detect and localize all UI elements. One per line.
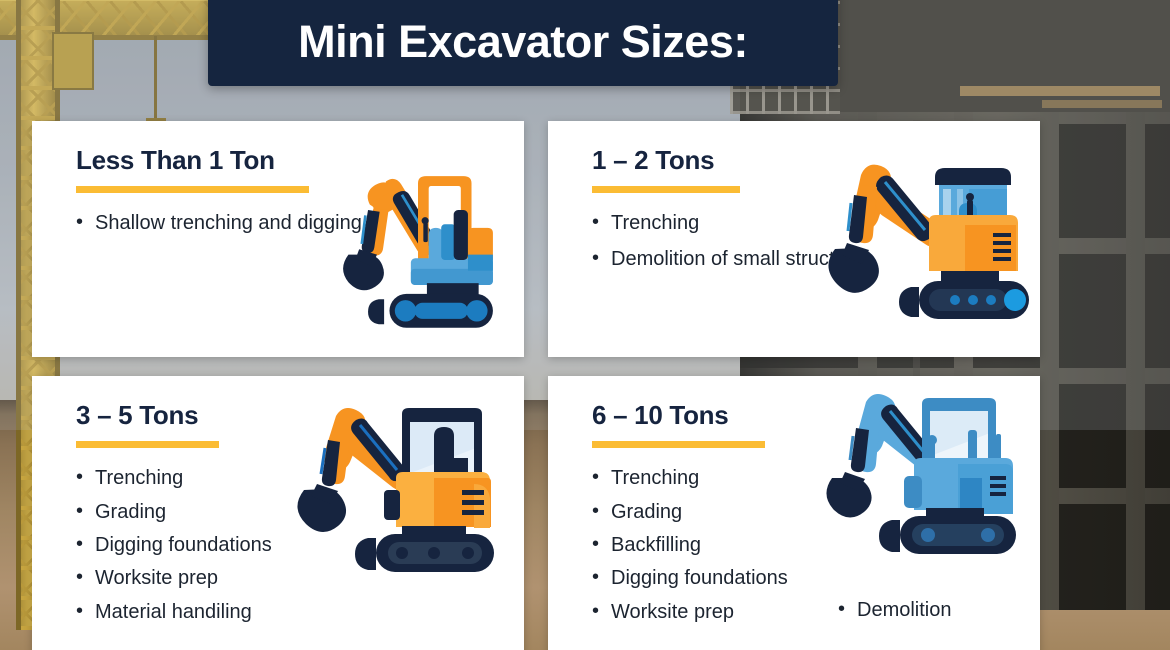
mini-excavator-illustration: [328, 169, 508, 334]
infographic-canvas: Mini Excavator Sizes: Less Than 1 Ton Sh…: [0, 0, 1170, 650]
title-underline: [76, 441, 219, 448]
list-item: Demolition: [838, 598, 951, 622]
list-item: Digging foundations: [592, 566, 892, 590]
card-bullet-list-secondary: Demolition: [838, 598, 951, 622]
mini-excavator-illustration: [817, 155, 1032, 340]
mini-excavator-illustration: [818, 390, 1018, 570]
size-card-less-than-1-ton[interactable]: Less Than 1 Ton Shallow trenching and di…: [32, 121, 524, 357]
title-banner: Mini Excavator Sizes:: [208, 0, 838, 86]
size-card-1-2-tons[interactable]: 1 – 2 Tons Trenching Demolition of small…: [548, 121, 1040, 357]
list-item: Material handiling: [76, 600, 376, 624]
size-card-6-10-tons[interactable]: 6 – 10 Tons Trenching Grading Backfillin…: [548, 376, 1040, 650]
mini-excavator-illustration: [284, 402, 494, 582]
size-card-3-5-tons[interactable]: 3 – 5 Tons Trenching Grading Digging fou…: [32, 376, 524, 650]
page-title: Mini Excavator Sizes:: [298, 19, 748, 86]
title-underline: [76, 186, 309, 193]
title-underline: [592, 441, 765, 448]
title-underline: [592, 186, 740, 193]
